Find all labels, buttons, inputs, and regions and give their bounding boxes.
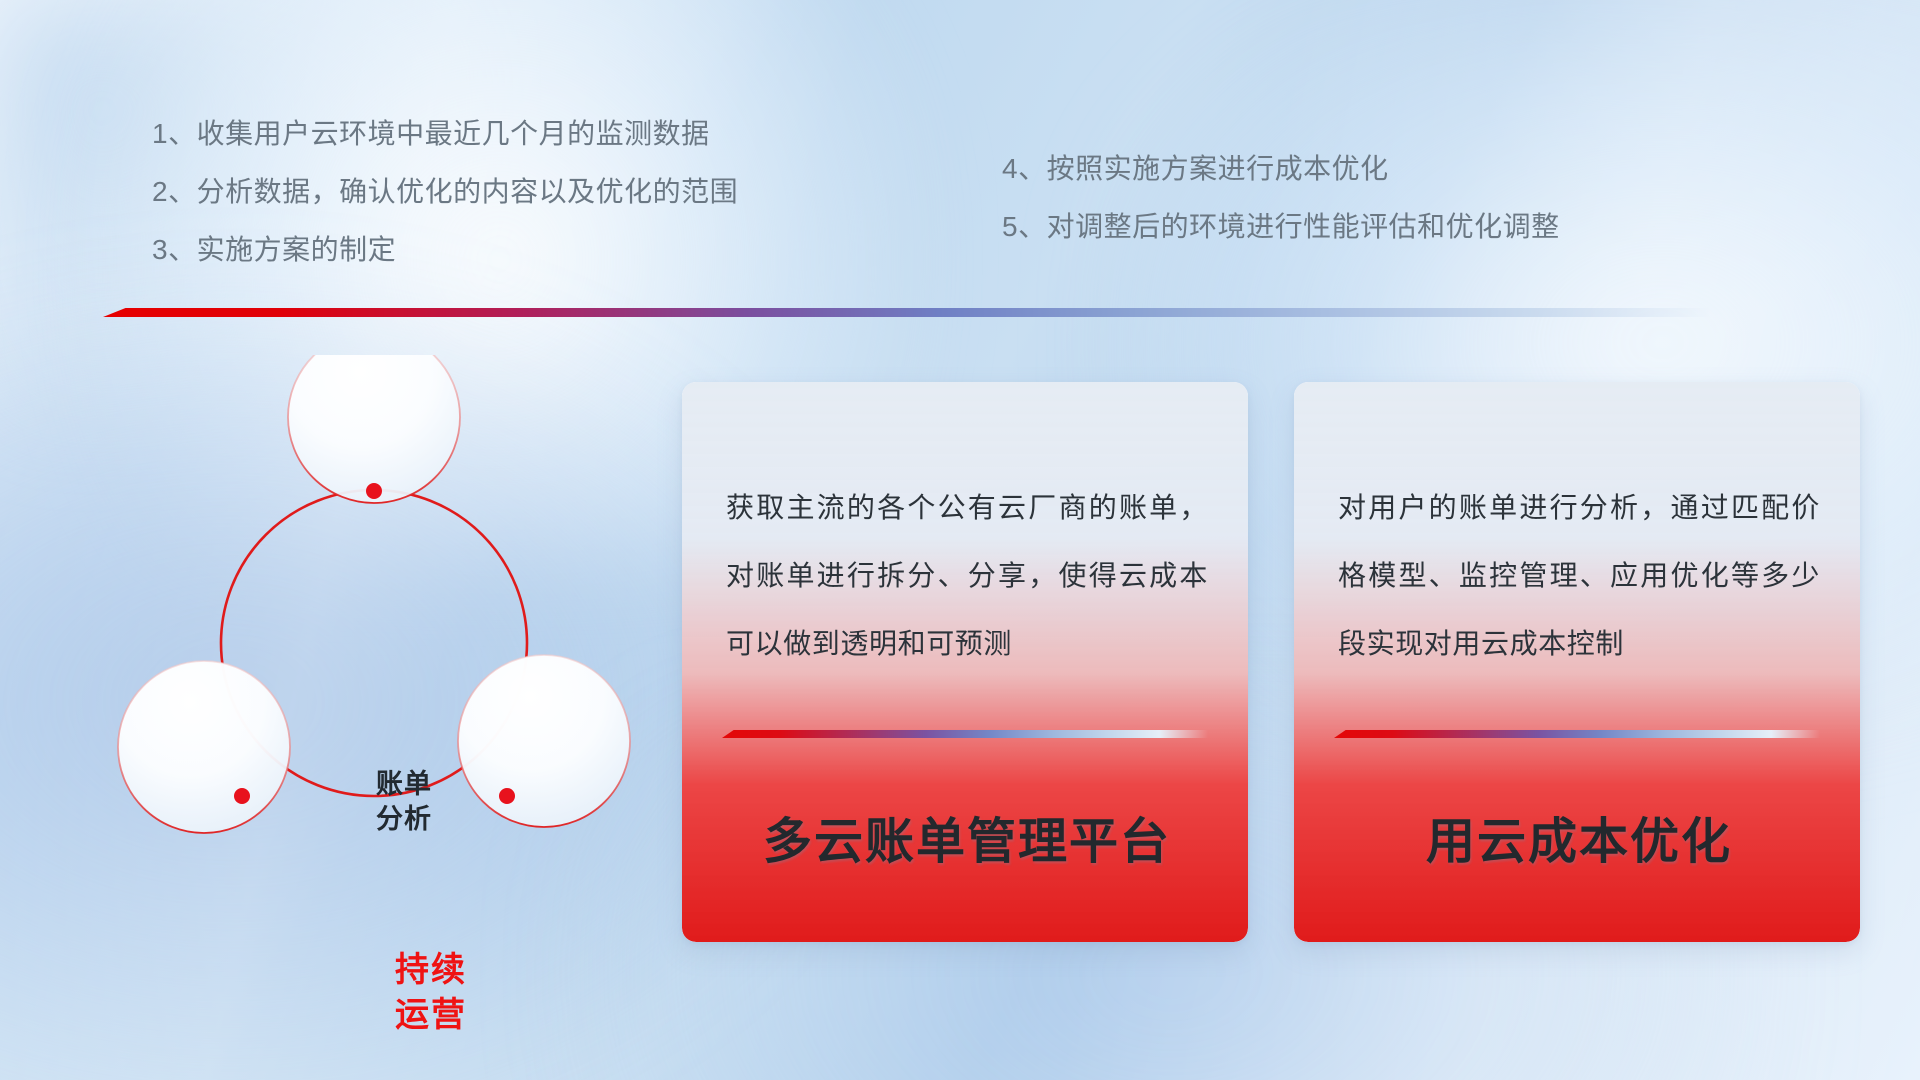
- junction-dot-right: [499, 788, 515, 804]
- card-2-description: 对用户的账单进行分析，通过匹配价格模型、监控管理、应用优化等多少段实现对用云成本…: [1338, 474, 1820, 677]
- diagram-svg: [96, 355, 656, 955]
- step-item-3: 3、实施方案的制定: [152, 236, 738, 264]
- steps-left-column: 1、收集用户云环境中最近几个月的监测数据 2、分析数据，确认优化的内容以及优化的…: [152, 120, 738, 294]
- card-1-title: 多云账单管理平台: [722, 802, 1212, 873]
- card-1-accent-rule: [722, 730, 1208, 738]
- step-item-4: 4、按照实施方案进行成本优化: [1002, 155, 1560, 183]
- step-item-1: 1、收集用户云环境中最近几个月的监测数据: [152, 120, 738, 148]
- bubble-optimization-strategy: [458, 655, 630, 827]
- junction-dot-top: [366, 483, 382, 499]
- card-2-title: 用云成本优化: [1334, 802, 1824, 873]
- section-divider: [103, 308, 1711, 317]
- diagram-center-label: 持续 运营: [351, 948, 511, 1038]
- steps-right-column: 4、按照实施方案进行成本优化 5、对调整后的环境进行性能评估和优化调整: [1002, 155, 1560, 271]
- center-ring: [374, 944, 376, 946]
- card-cloud-cost-optimization[interactable]: 对用户的账单进行分析，通过匹配价格模型、监控管理、应用优化等多少段实现对用云成本…: [1294, 382, 1860, 942]
- step-item-2: 2、分析数据，确认优化的内容以及优化的范围: [152, 178, 738, 206]
- center-label-line2: 运营: [351, 993, 511, 1038]
- card-2-accent-rule: [1334, 730, 1820, 738]
- card-1-description: 获取主流的各个公有云厂商的账单，对账单进行拆分、分享，使得云成本可以做到透明和可…: [726, 474, 1208, 677]
- bubble-billing-analysis: [288, 355, 460, 503]
- bubble-operation-management: [118, 661, 290, 833]
- center-label-line1: 持续: [351, 948, 511, 993]
- step-item-5: 5、对调整后的环境进行性能评估和优化调整: [1002, 213, 1560, 241]
- slide-canvas: 1、收集用户云环境中最近几个月的监测数据 2、分析数据，确认优化的内容以及优化的…: [0, 0, 1920, 1080]
- junction-dot-left: [234, 788, 250, 804]
- continuous-operation-diagram: 账单 分析 操作 运营 优化 策略 持续 运营: [96, 355, 656, 955]
- card-multi-cloud-billing-platform[interactable]: 获取主流的各个公有云厂商的账单，对账单进行拆分、分享，使得云成本可以做到透明和可…: [682, 382, 1248, 942]
